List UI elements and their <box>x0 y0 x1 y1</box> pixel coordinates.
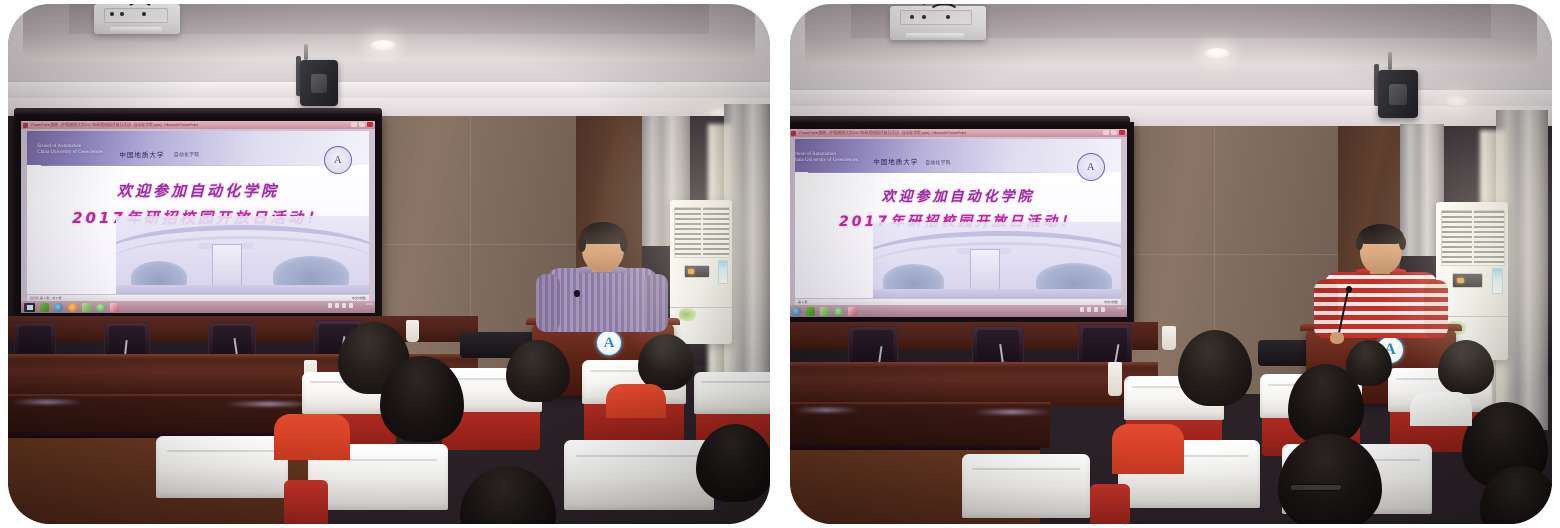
browser-green-icon[interactable] <box>806 307 815 316</box>
audience-head <box>1438 340 1494 394</box>
audience-seat <box>1090 484 1130 524</box>
window-title: PowerPoint 放映 - [中国地质大学2017年研招校园开放日活动 - … <box>31 122 198 128</box>
university-seal-icon: A <box>1077 153 1105 181</box>
audience-seat-cover <box>694 372 770 414</box>
start-button[interactable] <box>24 303 35 312</box>
input-language-indicator: 中文(中国) <box>352 296 366 300</box>
slide-canvas: School of Automation China University of… <box>27 131 369 294</box>
university-seal-icon: A <box>324 146 352 174</box>
slide-title-line1: 欢迎参加自动化学院 <box>795 185 1121 210</box>
internet-explorer-icon[interactable] <box>54 303 63 312</box>
downlight-ceiling <box>1444 96 1470 107</box>
audience-shoulders <box>606 384 666 418</box>
firefox-icon[interactable] <box>68 303 77 312</box>
ceiling-projector <box>94 4 180 34</box>
air-conditioner-grille-divider <box>701 207 703 256</box>
speaker-hair-side <box>578 236 586 252</box>
audience-head <box>696 424 770 502</box>
head-table-chair <box>848 326 898 366</box>
photo-panel-right: PowerPoint 放映 - [中国地质大学2017年研招校园开放日活动 - … <box>790 4 1552 524</box>
close-button[interactable] <box>367 122 373 127</box>
wall-panel-seam <box>1122 254 1338 255</box>
air-conditioner-display <box>1452 273 1483 288</box>
slide-header-university-cn: 中国地质大学 <box>119 149 164 159</box>
audience-desk-edge <box>8 394 318 397</box>
audience-head <box>638 334 694 390</box>
energy-label-sticker <box>1492 268 1503 294</box>
chat-icon[interactable] <box>834 307 843 316</box>
windows-taskbar[interactable]: 10:24 <box>790 305 1127 317</box>
projection-screen: PowerPoint 放映 - [中国地质大学2017年研招校园开放日活动 - … <box>790 122 1134 324</box>
speaker-mount-rail <box>304 44 308 60</box>
brand-decal <box>679 308 696 321</box>
powerpoint-icon[interactable] <box>110 303 119 312</box>
lecture-hall-scene-right: PowerPoint 放映 - [中国地质大学2017年研招校园开放日活动 - … <box>790 4 1552 524</box>
speaker-hair-side <box>1399 236 1406 250</box>
audience-head <box>460 466 556 524</box>
downlight-ceiling <box>370 40 396 51</box>
slide-header-university-cn: 中国地质大学 <box>873 156 918 166</box>
speaker-torso <box>1324 272 1438 338</box>
downlight-ceiling <box>1204 48 1230 59</box>
slide-header-english: School of Automation China University of… <box>37 144 103 157</box>
system-tray[interactable] <box>328 303 353 308</box>
clip-microphone <box>574 290 580 297</box>
photo-pair-figure: PowerPoint 放映 - [中国地质大学2017年研招校园开放日活动 - … <box>0 0 1560 528</box>
paper-cup <box>406 320 419 342</box>
powerpoint-window[interactable]: PowerPoint 放映 - [中国地质大学2017年研招校园开放日活动 - … <box>21 121 375 313</box>
file-explorer-icon[interactable] <box>82 303 91 312</box>
slide-counter: 第 1 张 <box>798 300 807 304</box>
internet-explorer-icon[interactable] <box>792 307 801 316</box>
powerpoint-titlebar: PowerPoint 放映 - [中国地质大学2017年研招校园开放日活动 - … <box>790 129 1127 137</box>
desk-light-reflection <box>226 402 312 406</box>
lecture-hall-scene-left: PowerPoint 放映 - [中国地质大学2017年研招校园开放日活动 - … <box>8 4 770 524</box>
input-language-indicator: 中文(中国) <box>1104 300 1118 304</box>
windows-taskbar[interactable]: 10:23 <box>21 301 375 313</box>
air-conditioner-display <box>684 265 711 279</box>
wall-loudspeaker <box>300 60 338 106</box>
energy-label-sticker <box>718 260 728 284</box>
projection-screen: PowerPoint 放映 - [中国地质大学2017年研招校园开放日活动 - … <box>14 114 382 320</box>
maximize-button[interactable] <box>1111 130 1117 135</box>
desk-light-reflection <box>794 408 858 412</box>
slide-canvas: School of Automation China University of… <box>795 139 1121 298</box>
audience-head <box>1346 340 1392 386</box>
slide-campus-photo <box>873 222 1121 298</box>
minimize-button[interactable] <box>1103 130 1109 135</box>
desk-light-reflection <box>12 400 82 404</box>
audience-seat-cover <box>156 436 288 498</box>
slide-header-rule <box>41 165 356 166</box>
head-table-top-edge <box>790 362 1158 367</box>
powerpoint-icon[interactable] <box>848 307 857 316</box>
window-controls[interactable] <box>1103 130 1125 135</box>
slide-header-rule <box>808 172 1108 173</box>
audience-desk-edge <box>790 402 1050 405</box>
slide-header-school-cn: 自动化学院 <box>174 152 200 158</box>
audience-shoulders <box>1410 392 1472 426</box>
floor-baseboard <box>790 444 1040 450</box>
window-controls[interactable] <box>351 122 373 127</box>
speaker-arm-left <box>1314 280 1338 338</box>
close-button[interactable] <box>1119 130 1125 135</box>
air-conditioner-grille-divider <box>1472 210 1474 264</box>
taskbar-clock[interactable]: 10:23 <box>365 303 373 307</box>
projector-lens <box>906 33 964 40</box>
campus-photo-ground <box>873 289 1121 298</box>
slide-header-english: School of Automation China University of… <box>795 152 858 165</box>
paper-cup <box>1162 326 1176 350</box>
handheld-microphone-head <box>1346 286 1352 293</box>
chat-icon[interactable] <box>96 303 105 312</box>
eyeglasses-icon <box>1290 484 1342 491</box>
photo-panel-left: PowerPoint 放映 - [中国地质大学2017年研招校园开放日活动 - … <box>8 4 770 524</box>
minimize-button[interactable] <box>351 122 357 127</box>
slide-counter: 幻灯片 第 1 张，共 2 张 <box>30 296 62 300</box>
head-table-chair <box>14 322 56 358</box>
head-table-chair <box>1078 324 1132 366</box>
powerpoint-titlebar: PowerPoint 放映 - [中国地质大学2017年研招校园开放日活动 - … <box>21 121 375 129</box>
speaker-hair <box>1358 224 1404 244</box>
projector-cable <box>928 4 960 25</box>
taskbar-clock[interactable]: 10:24 <box>1117 307 1125 311</box>
air-conditioner-seam <box>670 307 732 308</box>
speaker-arm-right <box>644 274 668 332</box>
speaker-hair-side <box>1356 236 1363 250</box>
speaker-arm-left <box>536 274 560 332</box>
window-title: PowerPoint 放映 - [中国地质大学2017年研招校园开放日活动 - … <box>799 130 966 136</box>
browser-green-icon[interactable] <box>40 303 49 312</box>
speaker-arm-right <box>1424 280 1448 338</box>
audience-seat-cover <box>962 454 1090 518</box>
audience-shoulders <box>274 414 350 460</box>
file-explorer-icon[interactable] <box>820 307 829 316</box>
powerpoint-app-icon <box>23 123 28 128</box>
audience-seat <box>284 480 328 524</box>
speaker-torso <box>546 268 658 332</box>
wall-loudspeaker <box>1378 70 1418 118</box>
ceiling-projector <box>890 6 986 40</box>
podium-logo-icon: A <box>596 330 622 356</box>
speaker-mount-rail <box>1388 52 1392 70</box>
audience-shoulders <box>1112 424 1184 474</box>
powerpoint-window[interactable]: PowerPoint 放映 - [中国地质大学2017年研招校园开放日活动 - … <box>790 129 1127 317</box>
system-tray[interactable] <box>1080 307 1105 312</box>
powerpoint-app-icon <box>791 131 796 136</box>
maximize-button[interactable] <box>359 122 365 127</box>
audience-head <box>506 340 570 402</box>
speaker-hand <box>1330 332 1344 344</box>
head-table <box>790 364 1158 406</box>
campus-photo-ground <box>116 285 369 294</box>
slide-title-line1: 欢迎参加自动化学院 <box>27 178 369 204</box>
speaker-hair-side <box>620 236 628 252</box>
projector-lens <box>110 27 162 34</box>
slide-campus-photo <box>116 216 369 294</box>
slide-header-school-cn: 自动化学院 <box>925 160 951 166</box>
desk-light-reflection <box>974 410 1050 414</box>
audience-seat-cover <box>564 440 714 510</box>
paper-cup <box>1108 362 1122 396</box>
head-table-chair <box>972 326 1024 366</box>
